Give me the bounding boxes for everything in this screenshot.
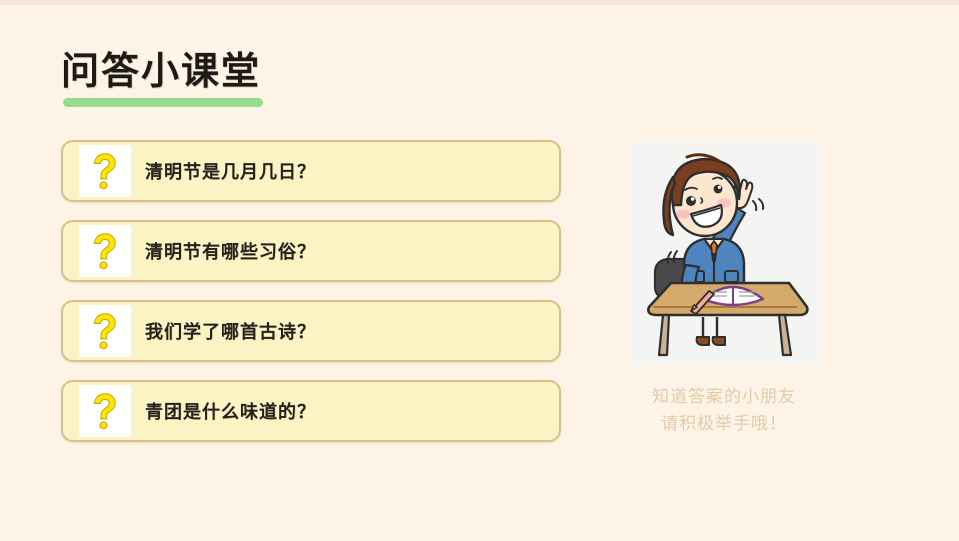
question-text: 清明节有哪些习俗？ <box>145 238 316 264</box>
caption-line-2: 请积极举手哦！ <box>629 410 819 437</box>
question-list: 清明节是几月几日？ 清明节有哪些习俗？ 我们学了哪首古诗？ <box>61 140 561 460</box>
question-text: 我们学了哪首古诗？ <box>145 318 316 344</box>
caption-line-1: 知道答案的小朋友 <box>629 383 819 410</box>
question-mark-icon <box>79 305 131 357</box>
title-underline <box>63 98 263 107</box>
question-card[interactable]: 清明节有哪些习俗？ <box>61 220 561 282</box>
question-card[interactable]: 我们学了哪首古诗？ <box>61 300 561 362</box>
question-text: 青团是什么味道的？ <box>145 398 316 424</box>
caption: 知道答案的小朋友 请积极举手哦！ <box>629 383 819 437</box>
page-title: 问答小课堂 <box>61 50 481 94</box>
question-card[interactable]: 青团是什么味道的？ <box>61 380 561 442</box>
question-mark-icon <box>79 145 131 197</box>
slide-canvas: 问答小课堂 清明节是几月几日？ 清明节有哪些习俗？ <box>0 5 959 541</box>
question-mark-icon <box>79 225 131 277</box>
student-raising-hand-illustration <box>629 141 819 365</box>
title-block: 问答小课堂 <box>61 50 481 107</box>
question-mark-icon <box>79 385 131 437</box>
question-text: 清明节是几月几日？ <box>145 158 316 184</box>
question-card[interactable]: 清明节是几月几日？ <box>61 140 561 202</box>
